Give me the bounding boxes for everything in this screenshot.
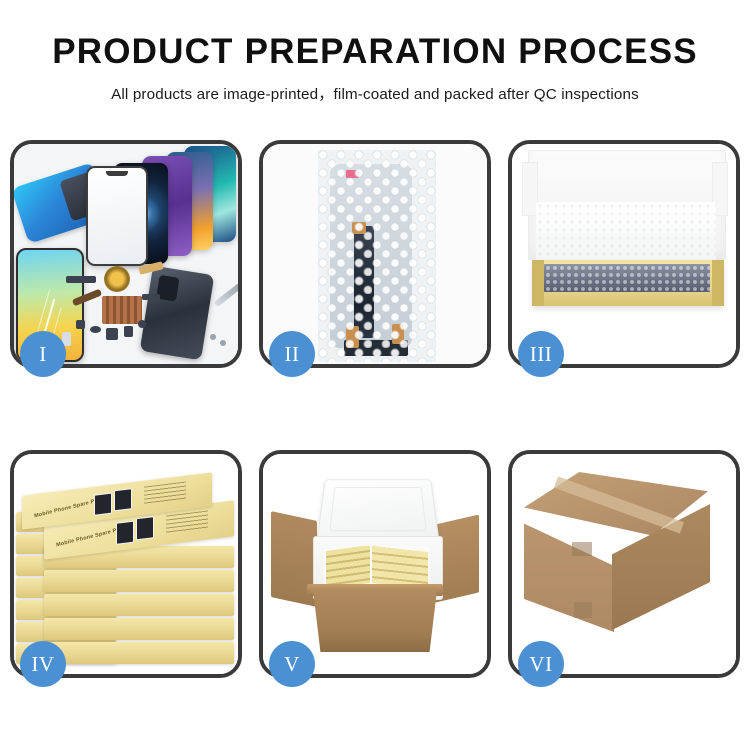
process-step-3[interactable]: III (508, 140, 740, 368)
process-panel-grid: I II (10, 140, 740, 740)
process-step-2[interactable]: II (259, 140, 491, 368)
process-step-1[interactable]: I (10, 140, 242, 368)
carton-front (313, 590, 437, 652)
chip-grid-icon (102, 296, 142, 324)
step-5-badge: V (269, 641, 315, 687)
bubble-padding (544, 264, 710, 292)
carton-seam-bottom (574, 602, 592, 618)
retail-box-stack-left (326, 546, 370, 588)
step-2-badge: II (269, 331, 315, 377)
step-6-badge: VI (518, 641, 564, 687)
white-phone-icon (86, 166, 148, 266)
process-step-5[interactable]: V (259, 450, 491, 678)
process-step-6[interactable]: VI (508, 450, 740, 678)
carton-seam-top (572, 542, 592, 556)
foam-sheet (536, 202, 716, 264)
step-4-badge: IV (20, 641, 66, 687)
page-title: PRODUCT PREPARATION PROCESS (0, 34, 750, 71)
page-subtitle: All products are image-printed，film-coat… (0, 82, 750, 104)
foam-box-lid (316, 479, 439, 541)
bubble-texture (318, 150, 436, 362)
bubble-wrap-bag (318, 150, 436, 362)
retail-box-stack-right (372, 546, 428, 588)
box-tray (532, 260, 724, 306)
process-step-4[interactable]: Mobile Phone Spare Parts Mobile Phone Sp… (10, 450, 242, 678)
step-1-badge: I (20, 331, 66, 377)
coil-part-icon (104, 266, 130, 292)
step-3-badge: III (518, 331, 564, 377)
phone-backplate-icon (140, 266, 215, 361)
page-header: PRODUCT PREPARATION PROCESS All products… (0, 0, 750, 104)
